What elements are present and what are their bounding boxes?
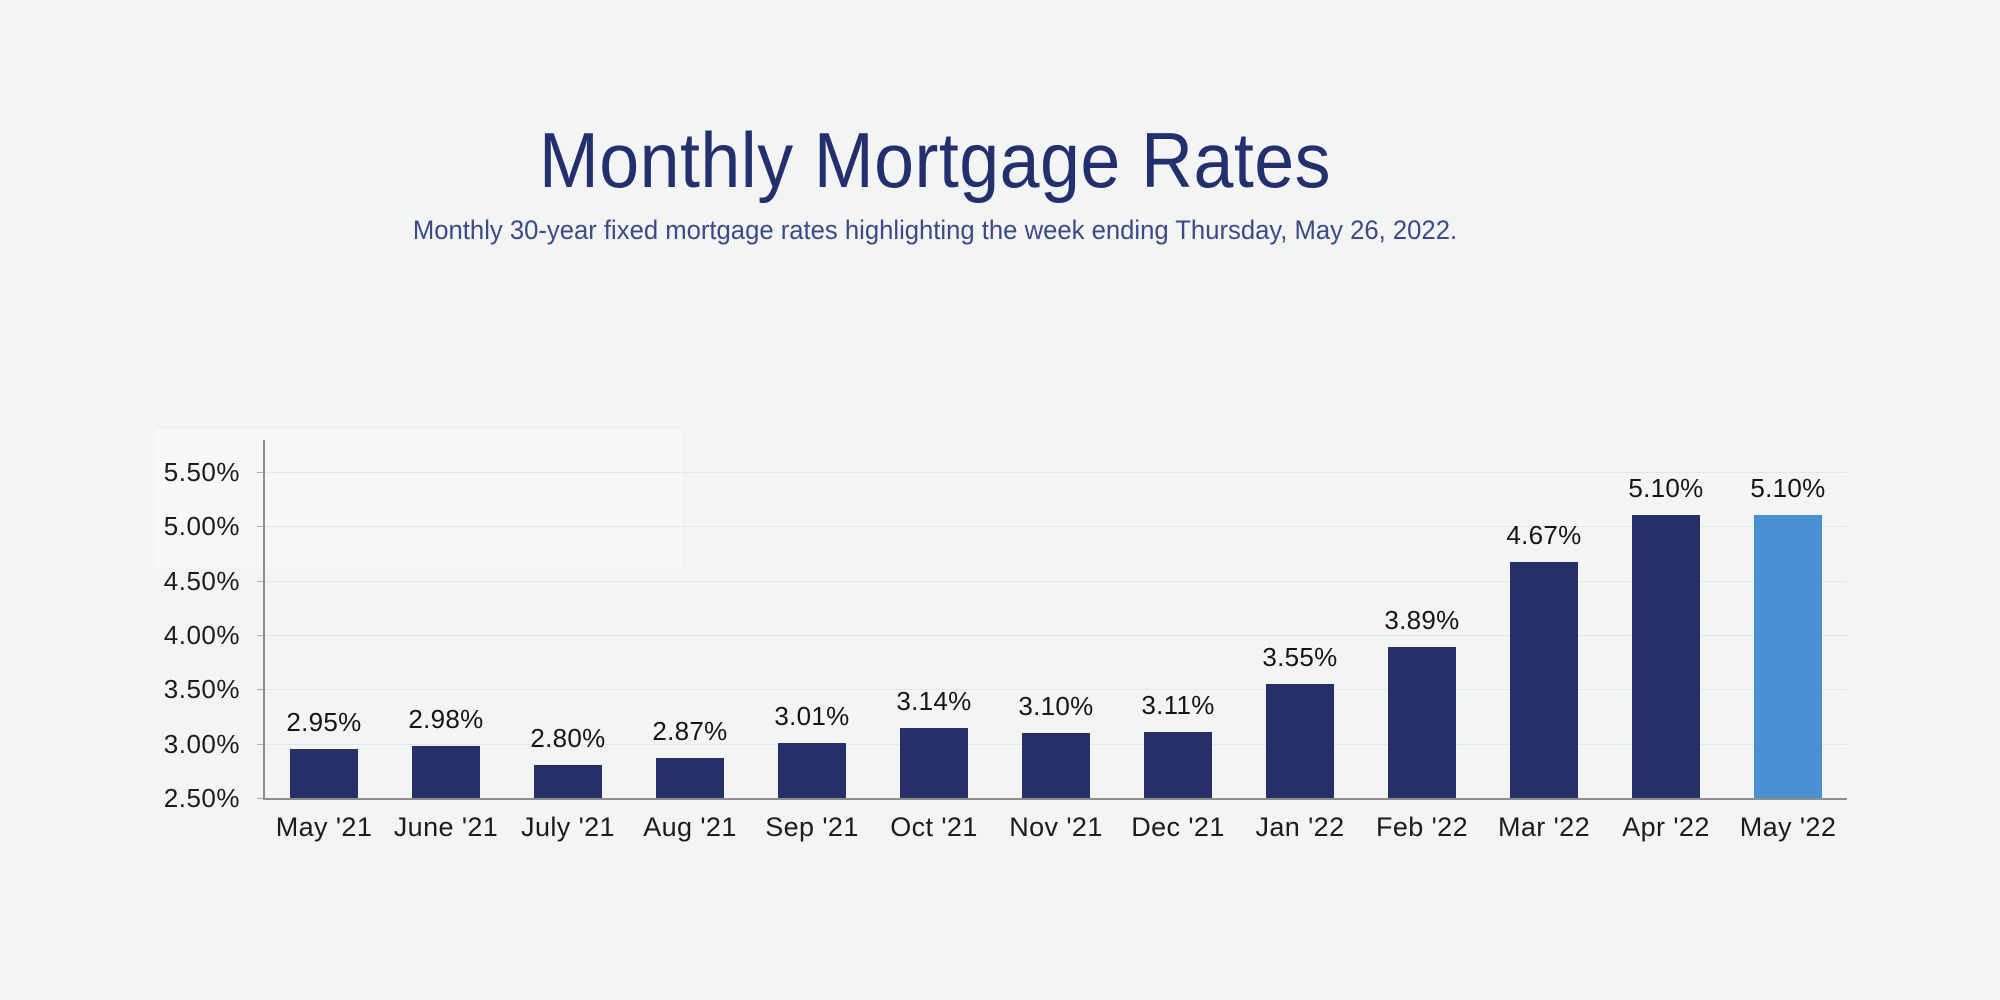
x-axis-label: Apr '22 [1600,812,1732,842]
bar[interactable] [1632,515,1700,798]
bar-value-label: 4.67% [1471,522,1617,548]
bar-slot: 5.10% [1605,440,1727,798]
bar[interactable] [1510,562,1578,798]
bar-slot: 3.10% [995,440,1117,798]
x-axis-label: Oct '21 [868,812,1000,842]
bar-slot: 4.67% [1483,440,1605,798]
bar[interactable] [534,765,602,798]
bar-slot: 2.98% [385,440,507,798]
chart-page: Monthly Mortgage Rates Monthly 30-year f… [0,0,2000,1000]
bar-slot: 2.80% [507,440,629,798]
x-axis-label: May '21 [258,812,390,842]
bar-chart: 5.50%5.00%4.50%4.00%3.50%3.00%2.50% 2.95… [0,0,2000,1000]
x-axis-line [263,798,1847,800]
bar-slot: 2.95% [263,440,385,798]
bar-slot: 5.10% [1727,440,1849,798]
x-axis-label: Jan '22 [1234,812,1366,842]
y-axis-label: 4.00% [90,622,240,648]
bar[interactable] [1266,684,1334,798]
bar-slot: 3.01% [751,440,873,798]
y-axis-label: 2.50% [90,785,240,811]
bar-value-label: 5.10% [1715,475,1861,501]
x-axis-label: Dec '21 [1112,812,1244,842]
bar[interactable] [778,743,846,798]
x-axis-label: Sep '21 [746,812,878,842]
x-axis-label: Nov '21 [990,812,1122,842]
bar-slot: 3.14% [873,440,995,798]
bar-slot: 3.55% [1239,440,1361,798]
x-axis-label: May '22 [1722,812,1854,842]
bar[interactable] [1022,733,1090,798]
bar[interactable] [656,758,724,798]
bar[interactable] [1388,647,1456,798]
y-axis-label: 4.50% [90,568,240,594]
bar[interactable] [1754,515,1822,798]
y-axis-label: 3.50% [90,676,240,702]
y-axis-label: 5.00% [90,513,240,539]
x-axis-label: Aug '21 [624,812,756,842]
bar-value-label: 3.89% [1349,607,1495,633]
y-axis-label: 3.00% [90,731,240,757]
bar[interactable] [900,728,968,798]
bar[interactable] [412,746,480,798]
x-axis-label: June '21 [380,812,512,842]
x-axis-label: July '21 [502,812,634,842]
bar-value-label: 3.11% [1105,692,1251,718]
x-axis-label: Mar '22 [1478,812,1610,842]
bar-value-label: 3.55% [1227,644,1373,670]
bar-slot: 3.11% [1117,440,1239,798]
y-axis-label: 5.50% [90,459,240,485]
bar-slot: 3.89% [1361,440,1483,798]
bar[interactable] [1144,732,1212,798]
bar-slot: 2.87% [629,440,751,798]
x-axis-label: Feb '22 [1356,812,1488,842]
bar[interactable] [290,749,358,798]
plot-area: 2.95%2.98%2.80%2.87%3.01%3.14%3.10%3.11%… [263,440,1847,798]
